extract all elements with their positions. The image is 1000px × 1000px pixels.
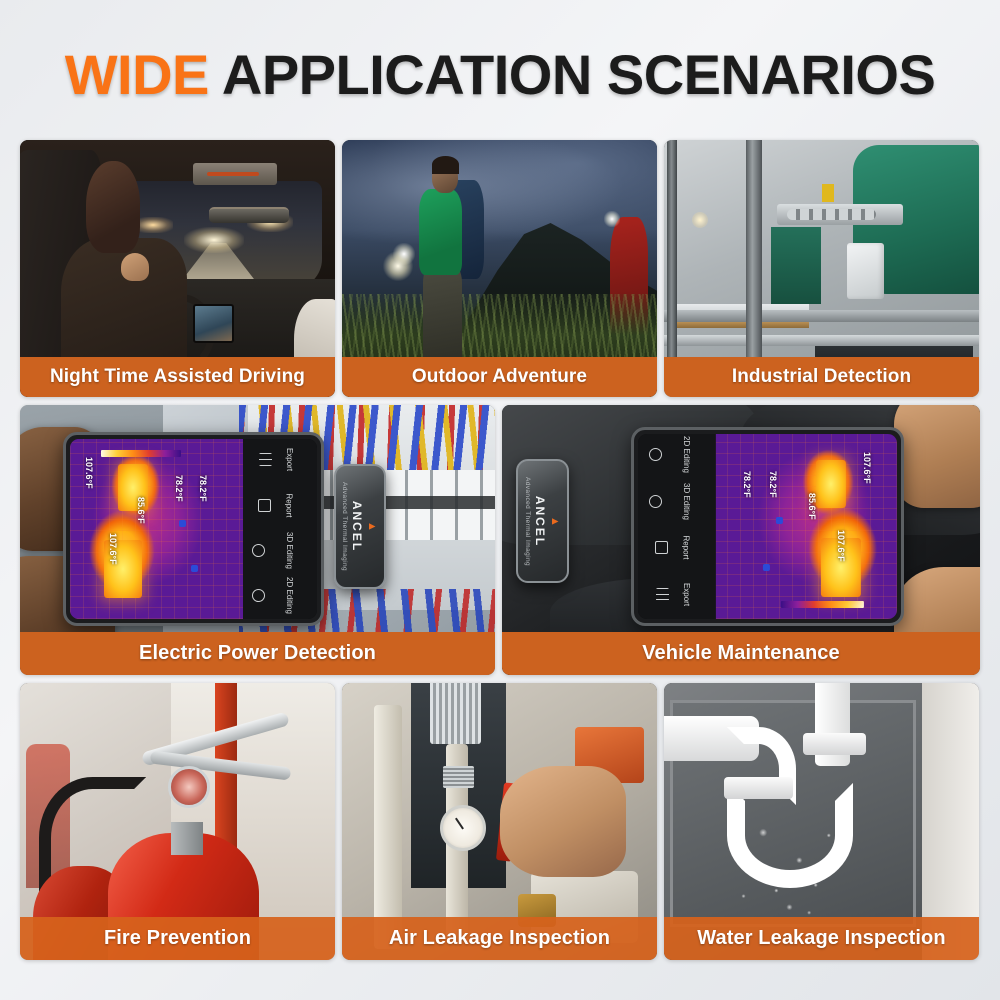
title-accent-word: WIDE (65, 43, 209, 106)
pipe-left (374, 705, 402, 949)
card-caption: Water Leakage Inspection (664, 917, 979, 960)
thermal-image-view[interactable]: 107.6°F 107.6°F 85.6°F 78.2°F 78.2°F (70, 439, 243, 619)
brand-name: ANCEL (350, 501, 364, 552)
card-electric-power-detection[interactable]: 107.6°F 107.6°F 85.6°F 78.2°F 78.2°F Exp… (20, 405, 495, 675)
thermal-image-view[interactable]: 107.6°F 107.6°F 85.6°F 78.2°F 78.2°F (716, 434, 897, 620)
temperature-scale-bar (101, 450, 181, 457)
driver-head (86, 161, 140, 254)
extinguisher-neck (171, 822, 203, 855)
infotainment-thermal-screen (193, 304, 234, 343)
pcb-traces (70, 439, 243, 619)
card-water-leakage-inspection[interactable]: Water Leakage Inspection (664, 683, 979, 960)
hand-upper-right (894, 405, 980, 508)
dongle-branding: ▲ ANCEL Advanced Thermal Imaging (341, 482, 378, 571)
thermal-phone[interactable]: 107.6°F 107.6°F 85.6°F 78.2°F 78.2°F Exp… (63, 432, 324, 626)
pressure-gauge (168, 766, 210, 808)
menu-label: Export (285, 448, 294, 471)
cold-spot-marker (179, 520, 186, 527)
temperature-scale-bar (781, 601, 864, 608)
card-vehicle-maintenance[interactable]: ▲ ANCEL Advanced Thermal Imaging 2D Edit… (502, 405, 980, 675)
extinguisher-handle (133, 722, 297, 794)
phone-screen[interactable]: 2D Editing 3D Editing Report (638, 434, 896, 620)
ancel-thermal-dongle: ▲ ANCEL Advanced Thermal Imaging (334, 464, 386, 588)
conveyor-rail-upper (664, 310, 979, 323)
brand-name: ANCEL (533, 495, 547, 546)
gear-icon (649, 495, 662, 508)
menu-label: 2D Editing (682, 436, 691, 473)
title-rest: APPLICATION SCENARIOS (222, 43, 935, 106)
clouds (342, 140, 657, 256)
menu-item-3d-editing[interactable]: 3D Editing (638, 495, 716, 508)
card-air-leakage-inspection[interactable]: Air Leakage Inspection (342, 683, 657, 960)
menu-item-report[interactable]: Report (638, 541, 716, 554)
pipe-collar-upper (803, 733, 866, 755)
temp-label-cool-1: 78.2°F (174, 475, 184, 502)
temp-label-mid: 85.6°F (136, 497, 146, 524)
thermal-phone[interactable]: 2D Editing 3D Editing Report (631, 427, 903, 627)
temp-label-scale: 107.6°F (84, 457, 94, 489)
menu-label: 3D Editing (285, 532, 294, 569)
gear-icon (252, 544, 265, 557)
card-fire-prevention[interactable]: Fire Prevention (20, 683, 335, 960)
menu-item-2d-editing[interactable]: 2D Editing (638, 448, 716, 461)
scenario-row-1: Night Time Assisted Driving (20, 140, 980, 397)
menu-label: Report (285, 493, 294, 517)
menu-label: Report (682, 536, 691, 560)
grid-menu-icon (656, 588, 669, 601)
phone-side-menu[interactable]: Export Report 3D Editing (243, 439, 317, 619)
temp-label-mid: 85.6°F (807, 493, 817, 520)
driver-hand (121, 253, 149, 281)
yellow-sensor (822, 184, 835, 202)
menu-label: 3D Editing (682, 483, 691, 520)
temp-label-hot: 107.6°F (108, 533, 118, 565)
temp-label-cool-2: 78.2°F (198, 475, 208, 502)
hiker-jacket (419, 189, 463, 275)
metal-cylinder (430, 683, 480, 744)
card-night-time-assisted-driving[interactable]: Night Time Assisted Driving (20, 140, 335, 397)
menu-item-3d-editing[interactable]: 3D Editing (243, 544, 317, 557)
pressure-gauge (440, 805, 486, 851)
card-industrial-detection[interactable]: Industrial Detection (664, 140, 979, 397)
scenario-row-3: Fire Prevention Air Leakage Inspection (20, 683, 980, 960)
hiker (405, 161, 481, 377)
sun-visor (193, 163, 277, 185)
scenario-grid: Night Time Assisted Driving (20, 140, 980, 960)
card-caption: Outdoor Adventure (342, 357, 657, 397)
card-outdoor-adventure[interactable]: Outdoor Adventure (342, 140, 657, 397)
phone-side-menu[interactable]: 2D Editing 3D Editing Report (638, 434, 716, 620)
linear-actuator-beam (777, 204, 903, 225)
image-icon (252, 589, 265, 602)
hiker-hair (432, 156, 459, 173)
infographic-page: WIDE APPLICATION SCENARIOS (0, 0, 1000, 1000)
cold-spot-marker (191, 565, 198, 572)
image-icon (649, 448, 662, 461)
work-lamp-icon (692, 212, 708, 228)
machine-panel-green (771, 227, 821, 304)
temp-label-scale: 107.6°F (861, 452, 871, 484)
menu-item-report[interactable]: Report (243, 499, 317, 512)
cold-spot-marker (776, 517, 783, 524)
card-caption: Air Leakage Inspection (342, 917, 657, 960)
technician-hand (500, 766, 626, 877)
report-icon (258, 499, 271, 512)
aluminium-column-left (667, 140, 676, 361)
brand-tagline: Advanced Thermal Imaging (341, 482, 348, 571)
card-caption: Electric Power Detection (20, 632, 495, 675)
pipe-fitting (443, 766, 475, 788)
menu-label: 2D Editing (285, 577, 294, 614)
card-caption: Fire Prevention (20, 917, 335, 960)
ancel-logo-icon: ▲ (549, 516, 561, 527)
menu-item-export[interactable]: Export (638, 588, 716, 601)
headlight-glow-icon (184, 227, 244, 253)
card-caption: Industrial Detection (664, 357, 979, 397)
control-box (847, 243, 885, 300)
ancel-logo-icon: ▲ (366, 521, 378, 532)
headlamp-glow-icon (393, 243, 415, 265)
brand-tagline: Advanced Thermal Imaging (524, 477, 531, 566)
menu-item-export[interactable]: Export (243, 453, 317, 466)
dongle-branding: ▲ ANCEL Advanced Thermal Imaging (524, 477, 561, 566)
page-title: WIDE APPLICATION SCENARIOS (0, 34, 1000, 114)
report-icon (655, 541, 668, 554)
temp-label-cool-1: 78.2°F (767, 471, 777, 498)
ancel-thermal-dongle: ▲ ANCEL Advanced Thermal Imaging (516, 459, 569, 583)
hot-chip-upper (815, 460, 846, 508)
rear-view-mirror (209, 207, 289, 223)
scenario-row-2: 107.6°F 107.6°F 85.6°F 78.2°F 78.2°F Exp… (20, 405, 980, 675)
grid-menu-icon (259, 453, 272, 466)
menu-item-2d-editing[interactable]: 2D Editing (243, 589, 317, 602)
card-caption: Vehicle Maintenance (502, 632, 980, 675)
water-spray (714, 794, 878, 933)
menu-label: Export (682, 583, 691, 606)
conveyor-rail-lower (664, 335, 979, 345)
temp-label-cool-2: 78.2°F (742, 471, 752, 498)
cold-spot-marker (763, 564, 770, 571)
temp-label-hot: 107.6°F (836, 530, 846, 562)
phone-screen[interactable]: 107.6°F 107.6°F 85.6°F 78.2°F 78.2°F Exp… (70, 439, 317, 619)
card-caption: Night Time Assisted Driving (20, 357, 335, 397)
